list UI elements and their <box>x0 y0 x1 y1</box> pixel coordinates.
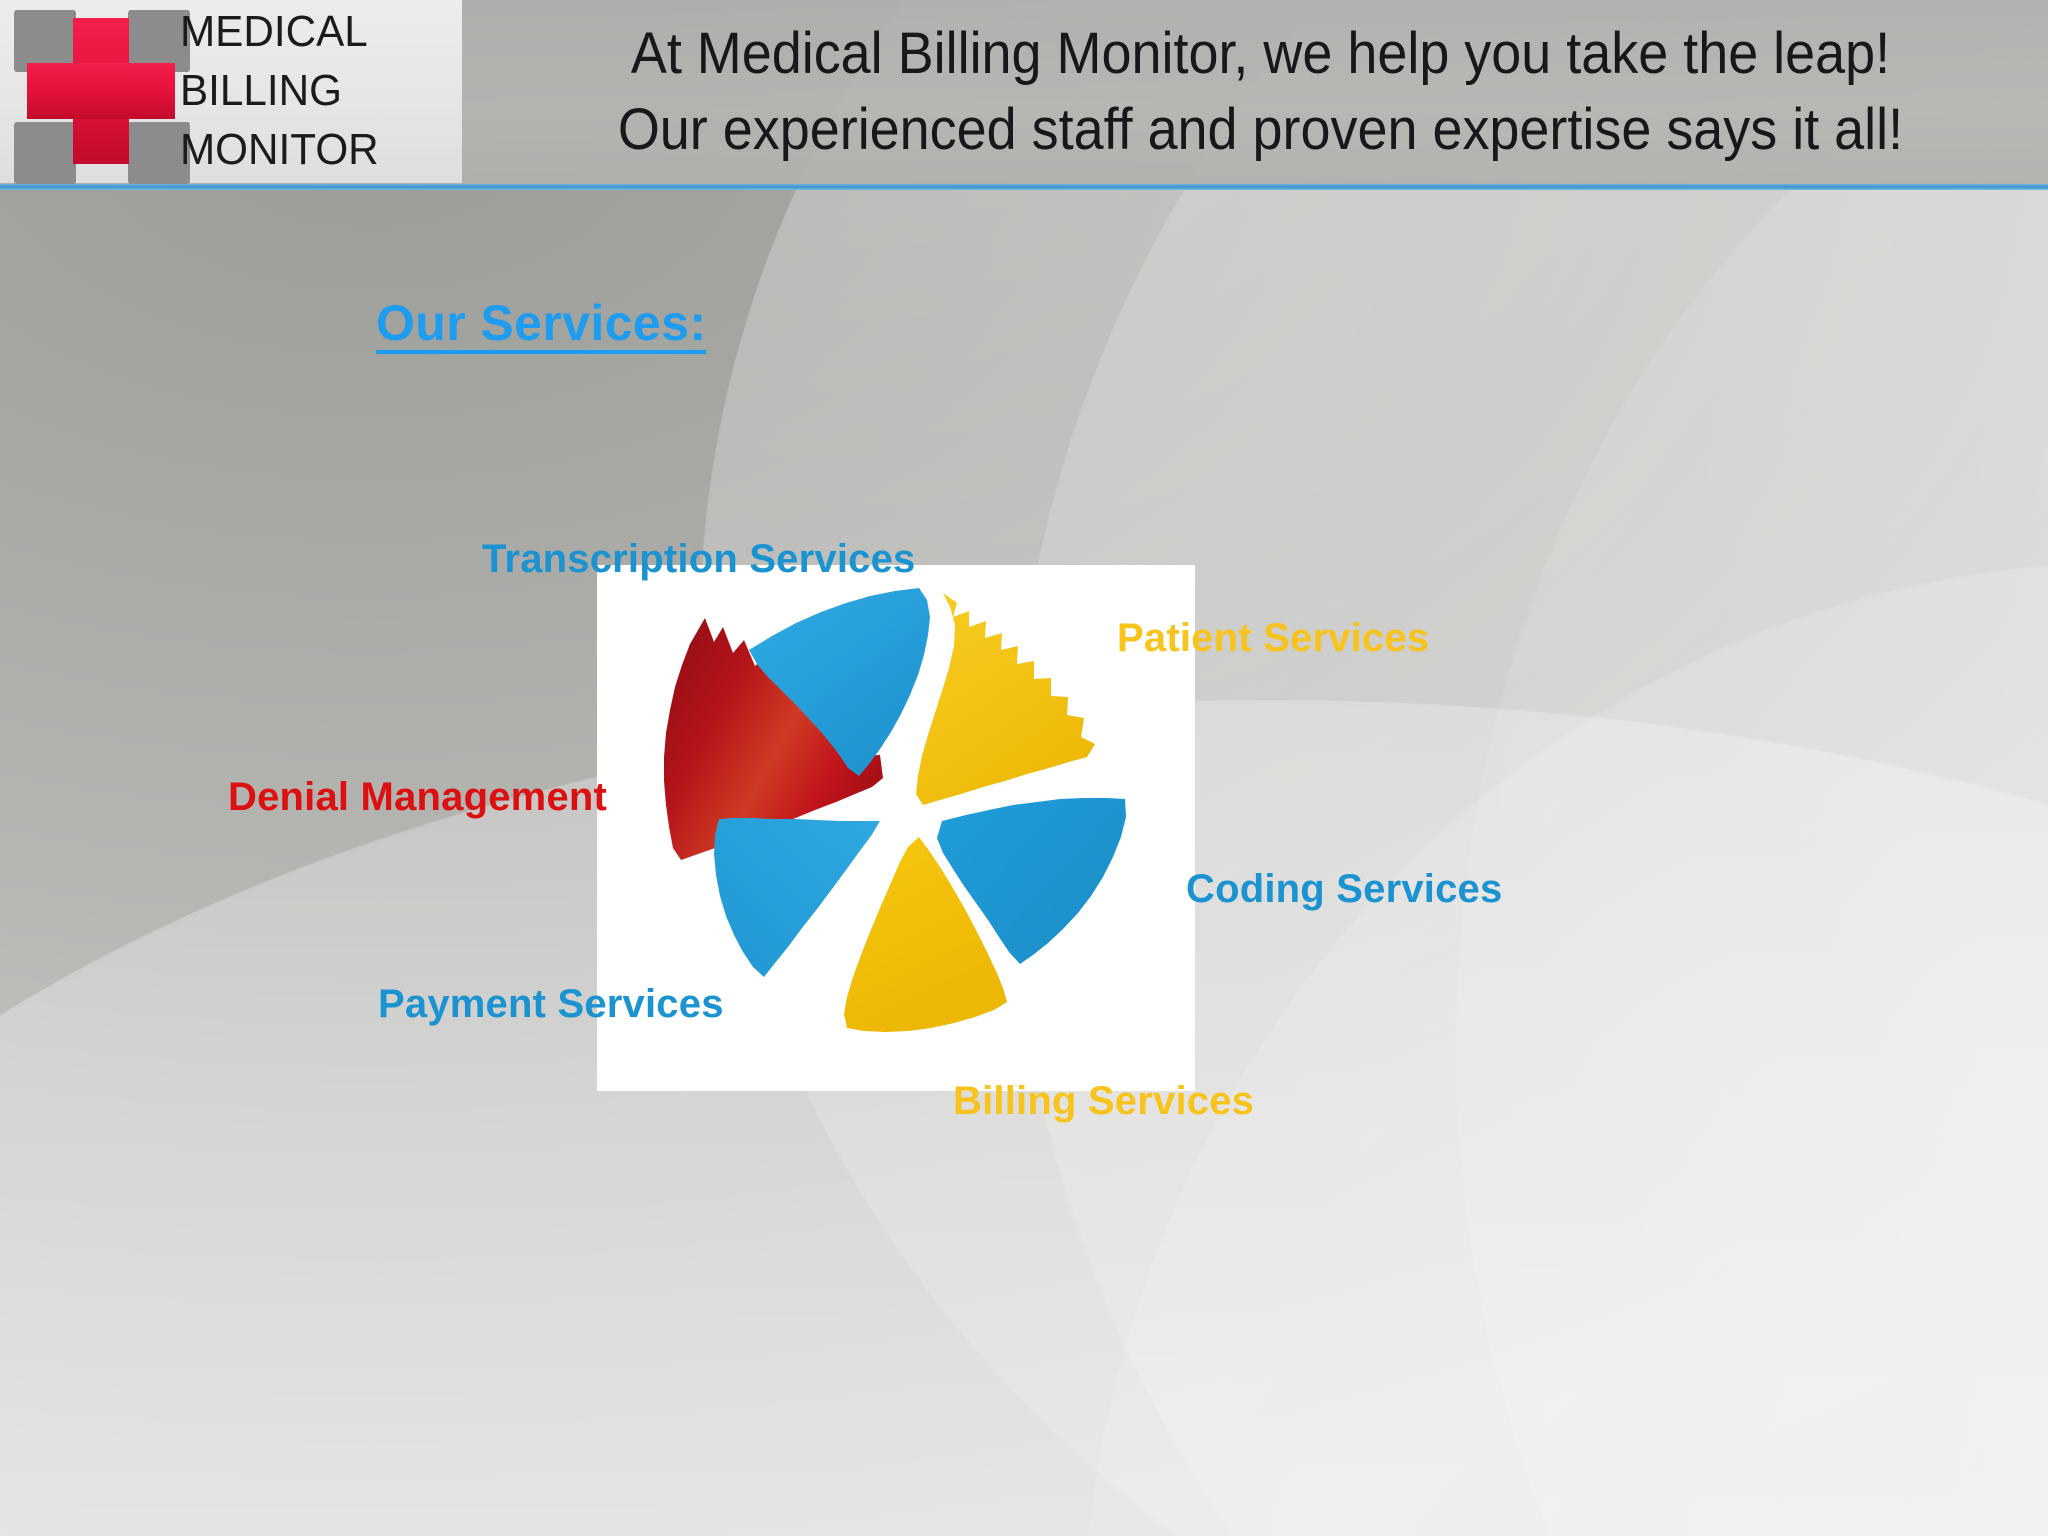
page-title: Our Services: <box>376 294 706 352</box>
light-blue-wedge-lower-left <box>714 818 880 977</box>
logo-wordmark: MEDICAL BILLING MONITOR <box>180 0 462 183</box>
service-label-coding: Coding Services <box>1186 867 1502 912</box>
service-label-billing: Billing Services <box>953 1079 1254 1124</box>
red-cross-icon <box>26 16 176 166</box>
service-label-patient: Patient Services <box>1117 616 1429 661</box>
service-label-payment: Payment Services <box>378 982 724 1027</box>
logo-word-monitor: MONITOR <box>180 121 451 179</box>
header-tagline: At Medical Billing Monitor, we help you … <box>488 16 2033 168</box>
service-label-transcription: Transcription Services <box>482 537 915 582</box>
header-tagline-line-2: Our experienced staff and proven experti… <box>542 92 1979 168</box>
background-arc-lower-right <box>1080 560 2048 1536</box>
brand-logo: MEDICAL BILLING MONITOR <box>0 0 462 183</box>
service-label-denial-management: Denial Management <box>228 775 607 820</box>
slide-header-band: MEDICAL BILLING MONITOR At Medical Billi… <box>0 0 2048 184</box>
header-tagline-line-1: At Medical Billing Monitor, we help you … <box>542 16 1979 92</box>
background-arc-right-edge <box>1455 0 2048 1536</box>
yellow-wedge-upper-right <box>916 593 1095 805</box>
presentation-slide: MEDICAL BILLING MONITOR At Medical Billi… <box>0 0 2048 1536</box>
header-divider-rule <box>0 184 2048 190</box>
logo-word-billing: BILLING <box>180 62 451 120</box>
logo-word-medical: MEDICAL <box>180 3 451 61</box>
